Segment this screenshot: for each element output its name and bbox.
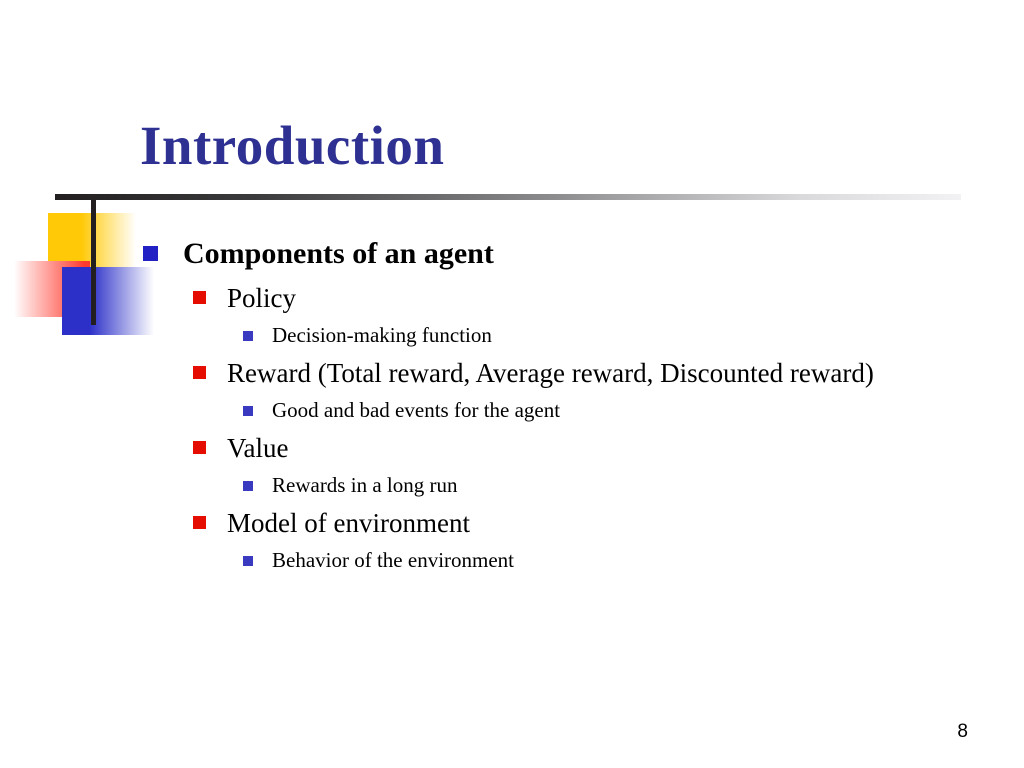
slide-body-list: Components of an agent Policy Decision-m…	[0, 232, 1024, 578]
bullet-item-label: Decision-making function	[272, 319, 1024, 352]
bullet-item-label: Components of an agent	[183, 232, 1024, 276]
blue-square-bullet-icon	[243, 481, 253, 491]
red-square-bullet-icon	[193, 366, 206, 379]
page-number: 8	[957, 721, 968, 743]
bullet-item-label: Good and bad events for the agent	[272, 394, 1024, 427]
bullet-item-label: Value	[227, 428, 929, 468]
bullet-item-level2: Policy	[193, 278, 1024, 318]
bullet-item-level3: Rewards in a long run	[243, 469, 1024, 502]
bullet-item-level1: Components of an agent	[143, 232, 1024, 276]
blue-square-bullet-icon	[143, 246, 158, 261]
bullet-item-label: Reward (Total reward, Average reward, Di…	[227, 353, 929, 393]
bullet-item-label: Policy	[227, 278, 929, 318]
title-divider	[55, 194, 961, 200]
blue-square-bullet-icon	[243, 406, 253, 416]
blue-square-bullet-icon	[243, 331, 253, 341]
bullet-item-level2: Reward (Total reward, Average reward, Di…	[193, 353, 1024, 393]
red-square-bullet-icon	[193, 291, 206, 304]
bullet-item-level3: Behavior of the environment	[243, 544, 1024, 577]
slide: Introduction Components of an agent Poli…	[0, 0, 1024, 768]
bullet-item-level3: Good and bad events for the agent	[243, 394, 1024, 427]
red-square-bullet-icon	[193, 516, 206, 529]
bullet-item-label: Rewards in a long run	[272, 469, 1024, 502]
red-square-bullet-icon	[193, 441, 206, 454]
blue-square-bullet-icon	[243, 556, 253, 566]
bullet-item-label: Behavior of the environment	[272, 544, 1024, 577]
bullet-item-label: Model of environment	[227, 503, 929, 543]
bullet-item-level2: Model of environment	[193, 503, 1024, 543]
bullet-item-level3: Decision-making function	[243, 319, 1024, 352]
bullet-item-level2: Value	[193, 428, 1024, 468]
slide-title: Introduction	[140, 118, 445, 173]
